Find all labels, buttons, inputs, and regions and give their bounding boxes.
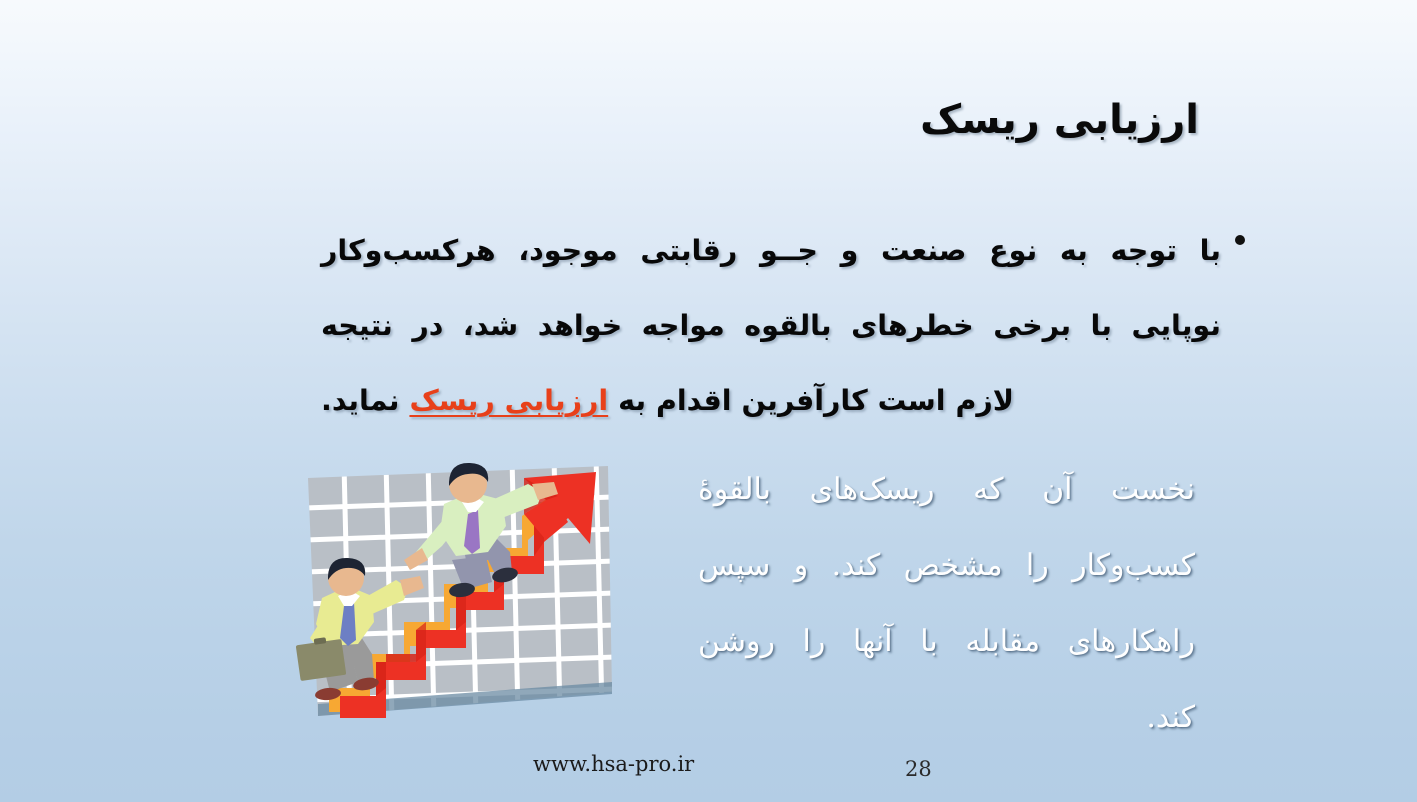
secondary-paragraph: نخست آن که ریسک‌های بالقوهٔ کسب‌وکار را … [698, 452, 1195, 756]
main-paragraph-line-3-before: لازم است کارآفرین اقدام به [608, 384, 1014, 417]
slide-canvas: ارزیابی ریسک با توجه به نوع صنعت و جــو … [0, 0, 1417, 802]
illustration-businessmen-climbing-arrow [296, 456, 618, 728]
footer-url: www.hsa-pro.ir [533, 752, 694, 776]
risk-assessment-highlight: ارزیابی ریسک [409, 384, 608, 417]
main-paragraph-line-3: لازم است کارآفرین اقدام به ارزیابی ریسک … [321, 363, 1221, 438]
secondary-paragraph-line-4: کند. [698, 680, 1195, 756]
main-paragraph-line-2: نوپایی با برخی خطرهای بالقوه مواجه خواهد… [321, 288, 1221, 363]
bullet-marker-icon [1235, 235, 1245, 245]
main-paragraph-line-3-after: نماید. [321, 384, 409, 417]
main-paragraph: با توجه به نوع صنعت و جــو رقابتی موجود،… [321, 213, 1221, 438]
secondary-paragraph-line-3: راهکارهای مقابله با آنها را روشن [698, 604, 1195, 680]
secondary-paragraph-line-2: کسب‌وکار را مشخص کند. و سپس [698, 528, 1195, 604]
main-paragraph-line-1: با توجه به نوع صنعت و جــو رقابتی موجود،… [321, 213, 1221, 288]
slide-title: ارزیابی ریسک [920, 97, 1199, 143]
footer-page-number: 28 [905, 757, 932, 781]
secondary-paragraph-line-1: نخست آن که ریسک‌های بالقوهٔ [698, 452, 1195, 528]
